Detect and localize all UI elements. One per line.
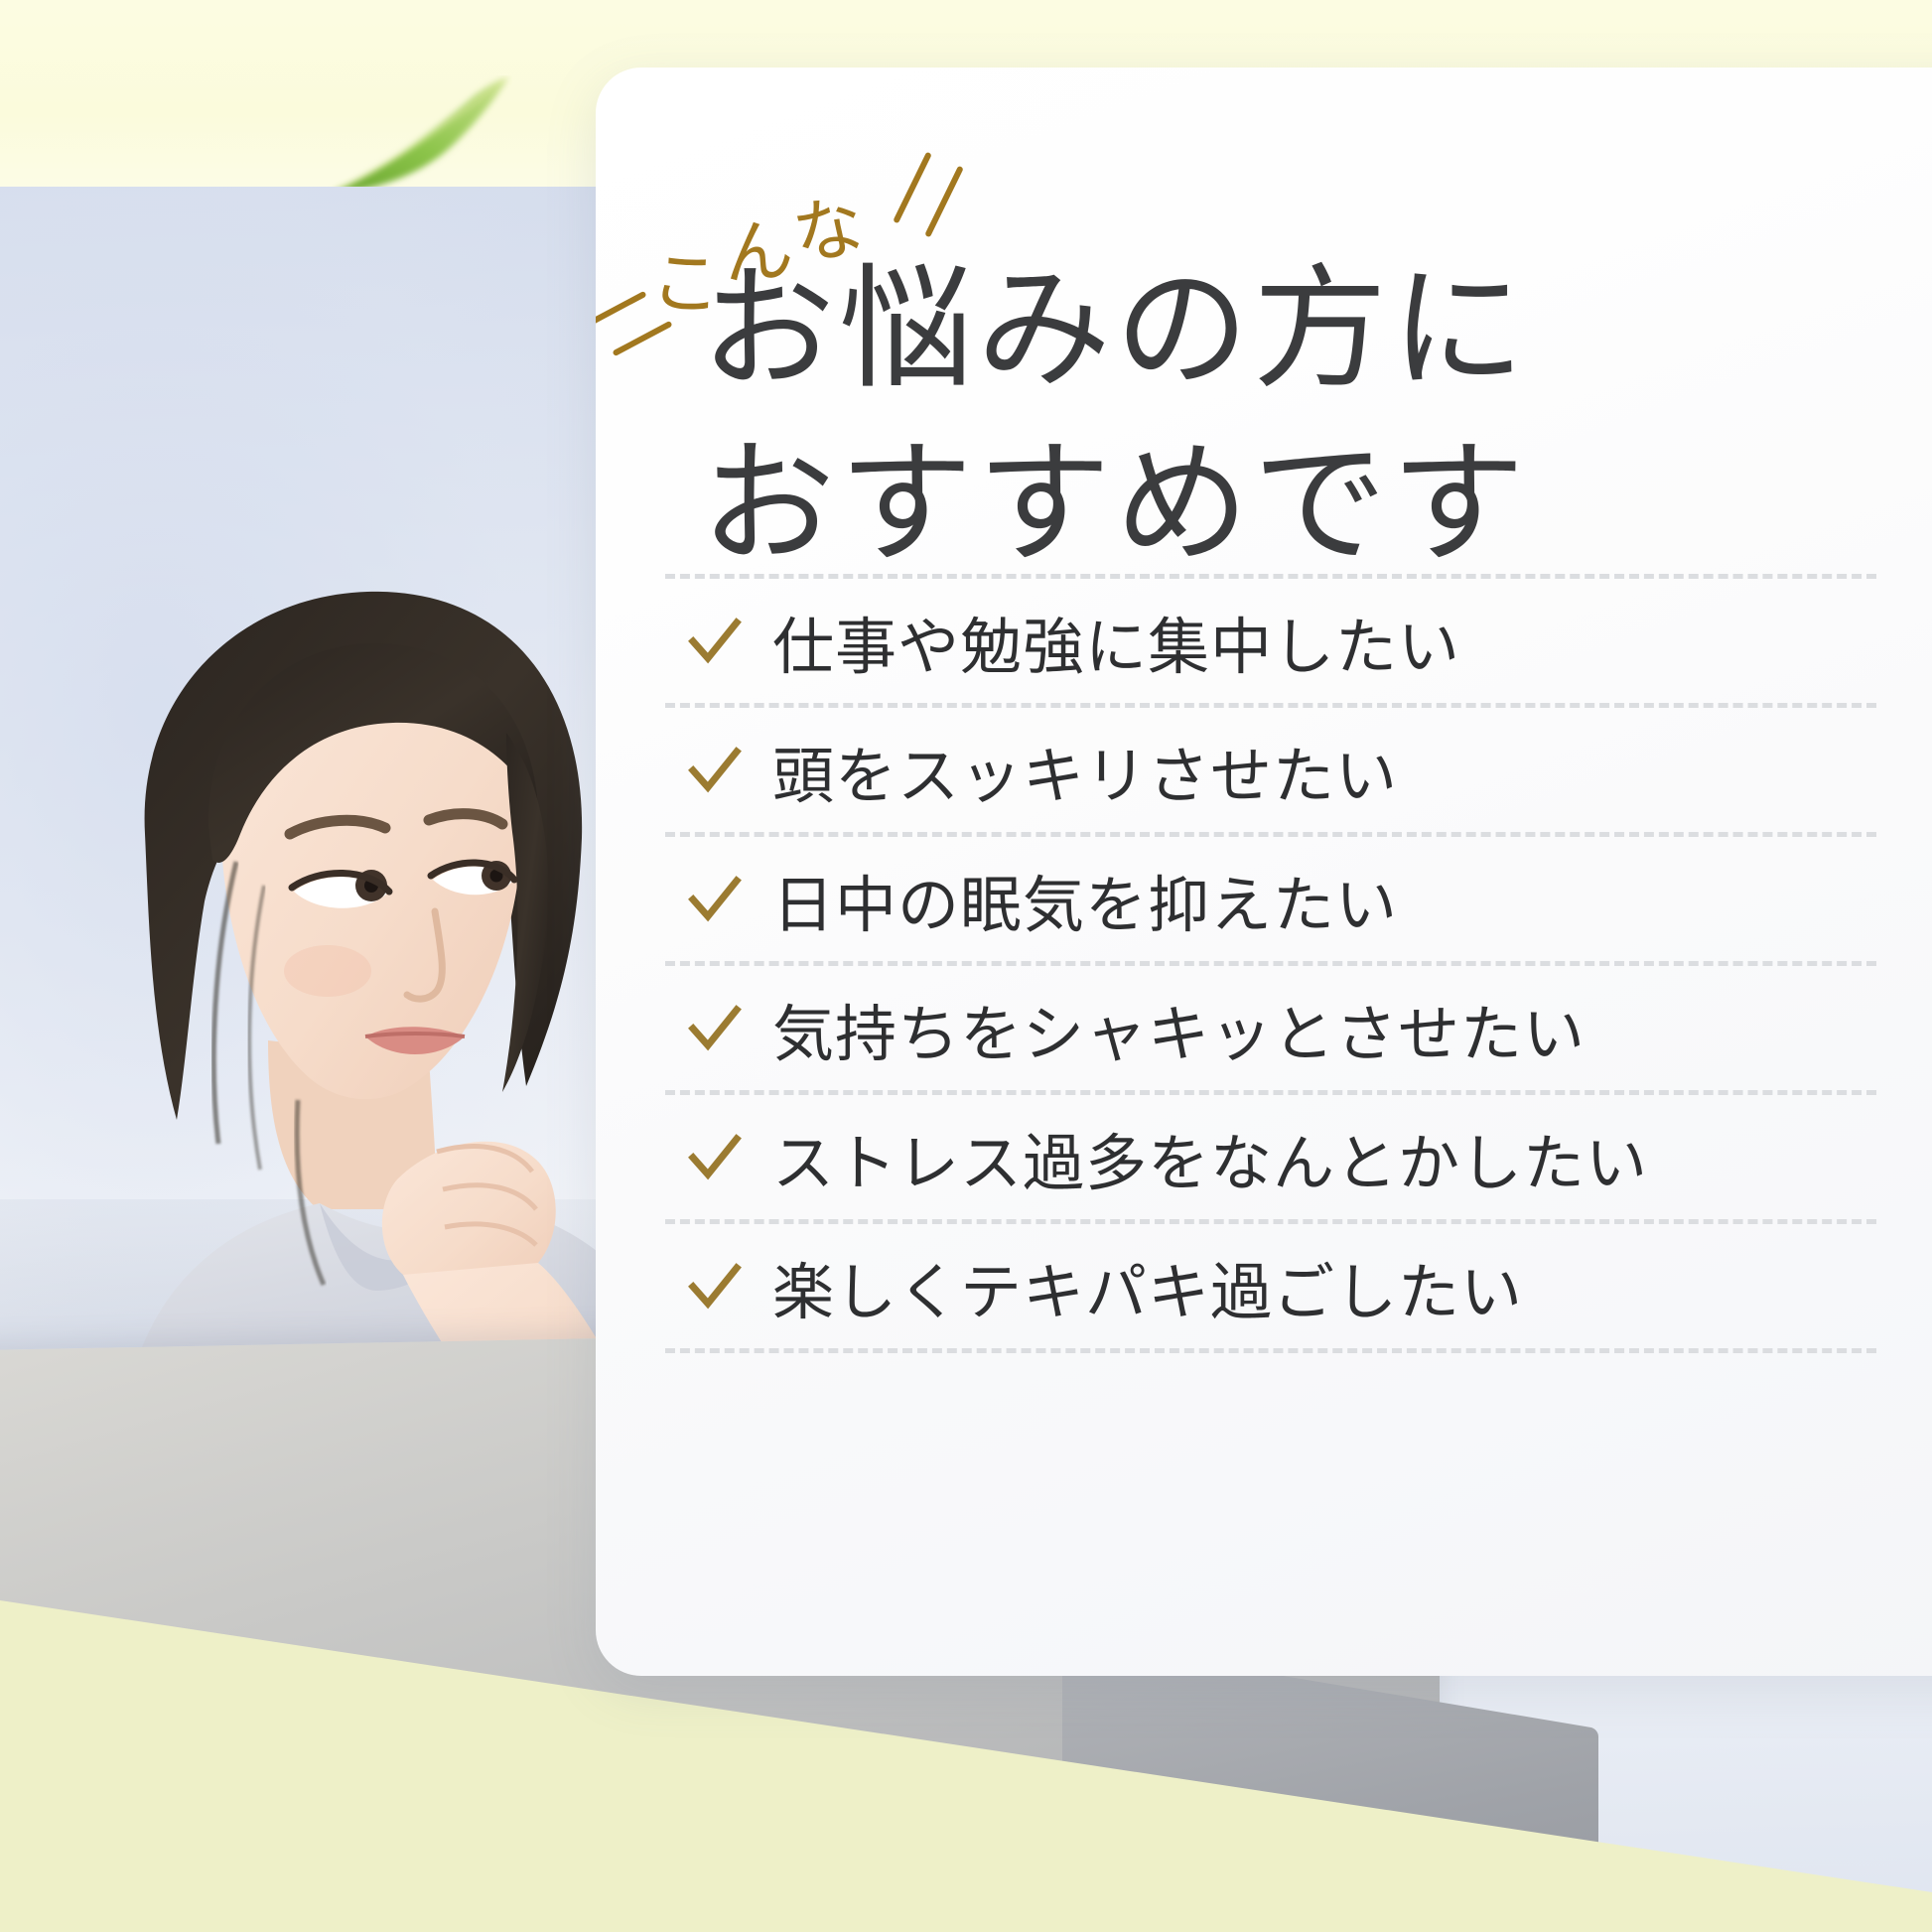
list-item-label: 楽しくテキパキ過ごしたい: [772, 1242, 1523, 1331]
list-item: 気持ちをシャキッとさせたい: [596, 966, 1932, 1090]
slash-right-1-icon: [893, 152, 932, 224]
checklist-divider: [665, 1348, 1876, 1353]
list-item-label: 日中の眠気を抑えたい: [772, 855, 1398, 944]
page-title: お悩みの方に おすすめです: [701, 244, 1932, 593]
check-icon: [687, 872, 743, 927]
check-icon: [687, 614, 743, 669]
check-icon: [687, 1259, 743, 1314]
check-icon: [687, 1001, 743, 1056]
list-item: ストレス過多をなんとかしたい: [596, 1095, 1932, 1219]
slash-right-2-icon: [924, 166, 964, 238]
list-item: 頭をスッキリさせたい: [596, 708, 1932, 832]
poster-canvas: こんな お悩みの方に おすすめです 仕事や勉強に集中したい: [0, 0, 1932, 1932]
list-item-label: 仕事や勉強に集中したい: [772, 597, 1460, 686]
list-item: 日中の眠気を抑えたい: [596, 837, 1932, 961]
list-item: 仕事や勉強に集中したい: [596, 579, 1932, 703]
heading-line-1: お悩みの方に: [701, 244, 1932, 419]
heading-line-2: おすすめです: [701, 419, 1932, 594]
slash-left-1-icon: [596, 291, 647, 327]
list-item-label: 頭をスッキリさせたい: [772, 726, 1398, 815]
list-item-label: ストレス過多をなんとかしたい: [772, 1113, 1648, 1202]
list-item-label: 気持ちをシャキッとさせたい: [772, 984, 1586, 1073]
check-icon: [687, 1130, 743, 1185]
checklist: 仕事や勉強に集中したい 頭をスッキリさせたい 日中の眠気を抑えた: [596, 574, 1932, 1353]
check-icon: [687, 743, 743, 798]
list-item: 楽しくテキパキ過ごしたい: [596, 1224, 1932, 1348]
content-card: こんな お悩みの方に おすすめです 仕事や勉強に集中したい: [596, 68, 1932, 1676]
